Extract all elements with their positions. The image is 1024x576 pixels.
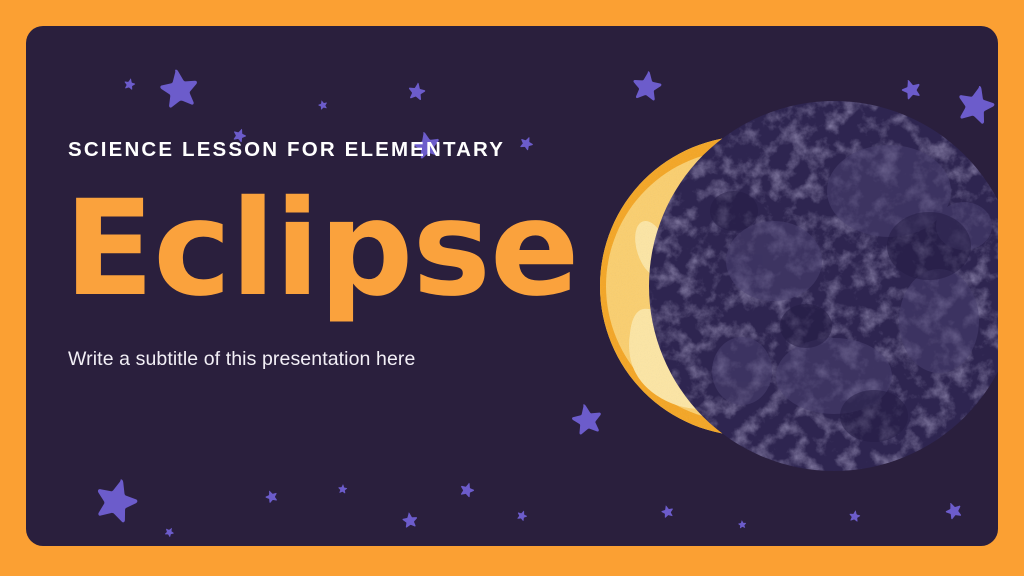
star-icon [848, 509, 861, 522]
solar-eclipse-illustration [534, 71, 998, 501]
eyebrow-title: SCIENCE LESSON FOR ELEMENTARY [68, 138, 598, 163]
star-icon [406, 80, 426, 100]
slide-canvas: SCIENCE LESSON FOR ELEMENTARY Eclipse Wr… [26, 26, 998, 546]
star-icon [316, 98, 327, 109]
slide-subtitle: Write a subtitle of this presentation he… [68, 348, 598, 371]
star-icon [90, 472, 142, 524]
star-icon [738, 520, 747, 529]
star-icon [515, 508, 528, 521]
star-icon [163, 525, 175, 537]
slide-frame: SCIENCE LESSON FOR ELEMENTARY Eclipse Wr… [0, 0, 1024, 576]
star-icon [157, 66, 200, 109]
star-icon [943, 500, 964, 521]
star-icon [122, 76, 135, 89]
star-icon [660, 504, 675, 519]
star-icon [263, 488, 278, 503]
page-title: Eclipse [64, 185, 598, 314]
star-icon [401, 511, 418, 528]
star-icon [458, 480, 476, 498]
slide-text-block: SCIENCE LESSON FOR ELEMENTARY Eclipse Wr… [68, 138, 598, 371]
star-icon [337, 483, 347, 493]
